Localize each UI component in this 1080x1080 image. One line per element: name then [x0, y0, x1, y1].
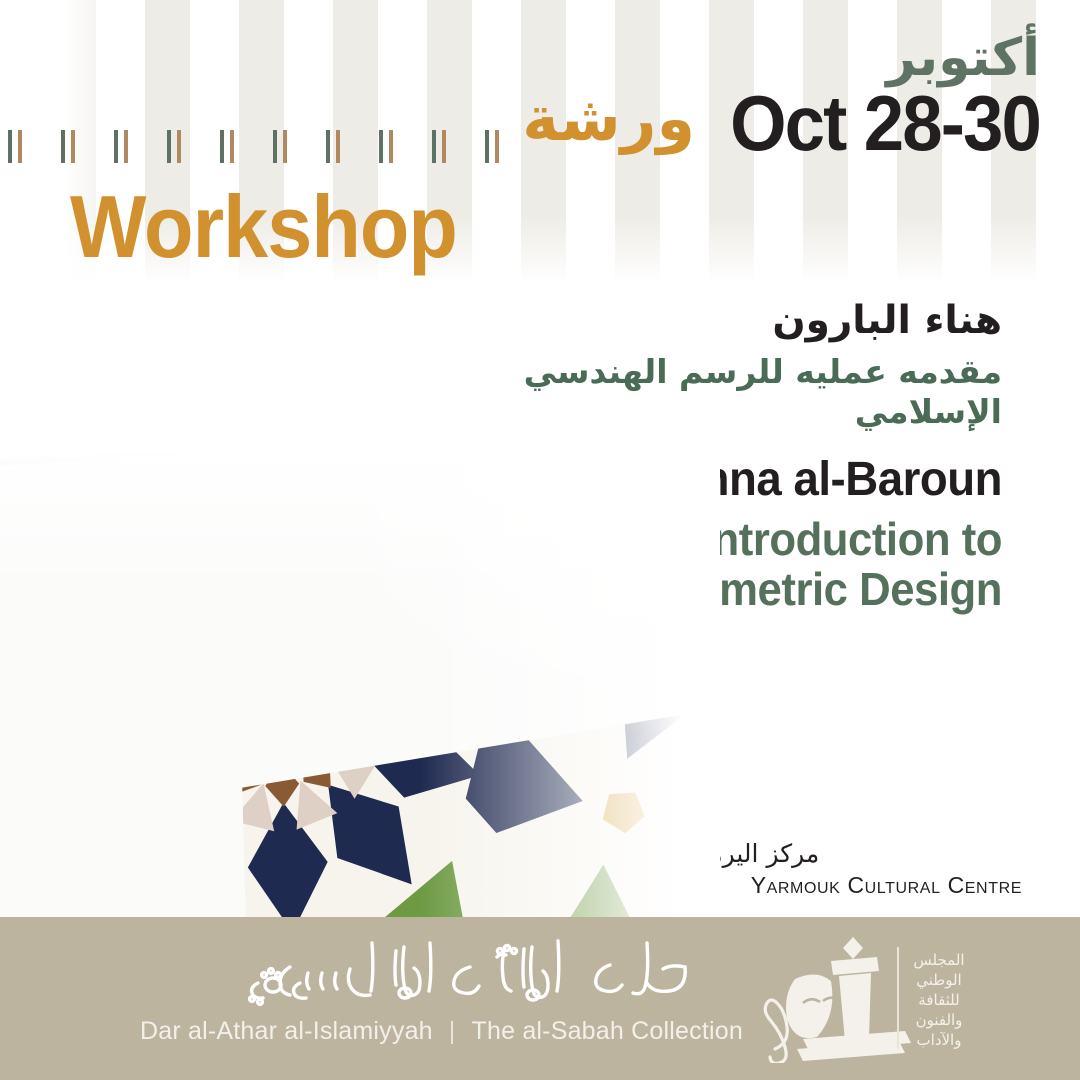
workshop-arabic-label: ورشة	[505, 88, 695, 150]
dash-pair	[273, 130, 287, 163]
dash-pair	[485, 130, 499, 163]
dash-pair	[167, 130, 181, 163]
nccal-line-2: الوطني	[916, 971, 961, 990]
dash-rule-decoration	[8, 128, 498, 164]
dash-pair	[220, 130, 234, 163]
islamic-pattern-photo	[0, 440, 720, 930]
dash-pair	[432, 130, 446, 163]
dash-pair	[61, 130, 75, 163]
month-arabic-label: أكتوبر	[820, 32, 1040, 84]
nccal-line-1: المجلس	[913, 951, 964, 969]
event-subtitle-arabic: مقدمه عمليه للرسم الهندسي الإسلامي	[382, 352, 1002, 431]
dash-pair	[8, 130, 22, 163]
nccal-partner-logo: المجلس الوطني للثقافة والفنون والآداب	[745, 931, 975, 1063]
page-title: Workshop	[70, 183, 457, 271]
dash-pair	[326, 130, 340, 163]
poster-canvas: أكتوبر Oct 28-30 ورشة Workshop هناء البا…	[0, 0, 1080, 1080]
dar-al-athar-logo	[140, 939, 700, 1011]
nccal-line-4: والفنون	[916, 1011, 963, 1029]
dash-pair	[379, 130, 393, 163]
speaker-name-arabic: هناء البارون	[382, 298, 1002, 344]
footer-caption: Dar al-Athar al-Islamiyyah|The al-Sabah …	[140, 1017, 700, 1046]
event-date: Oct 28-30	[668, 84, 1040, 162]
footer-bar: Dar al-Athar al-Islamiyyah|The al-Sabah …	[0, 917, 1080, 1080]
nccal-line-3: للثقافة	[918, 991, 959, 1009]
nccal-line-5: والآداب	[917, 1031, 962, 1049]
footer-caption-right: The al-Sabah Collection	[472, 1017, 743, 1045]
dash-pair	[114, 130, 128, 163]
footer-caption-separator: |	[433, 1017, 472, 1045]
footer-caption-left: Dar al-Athar al-Islamiyyah	[140, 1017, 433, 1045]
photo-corner-fade	[300, 440, 720, 740]
